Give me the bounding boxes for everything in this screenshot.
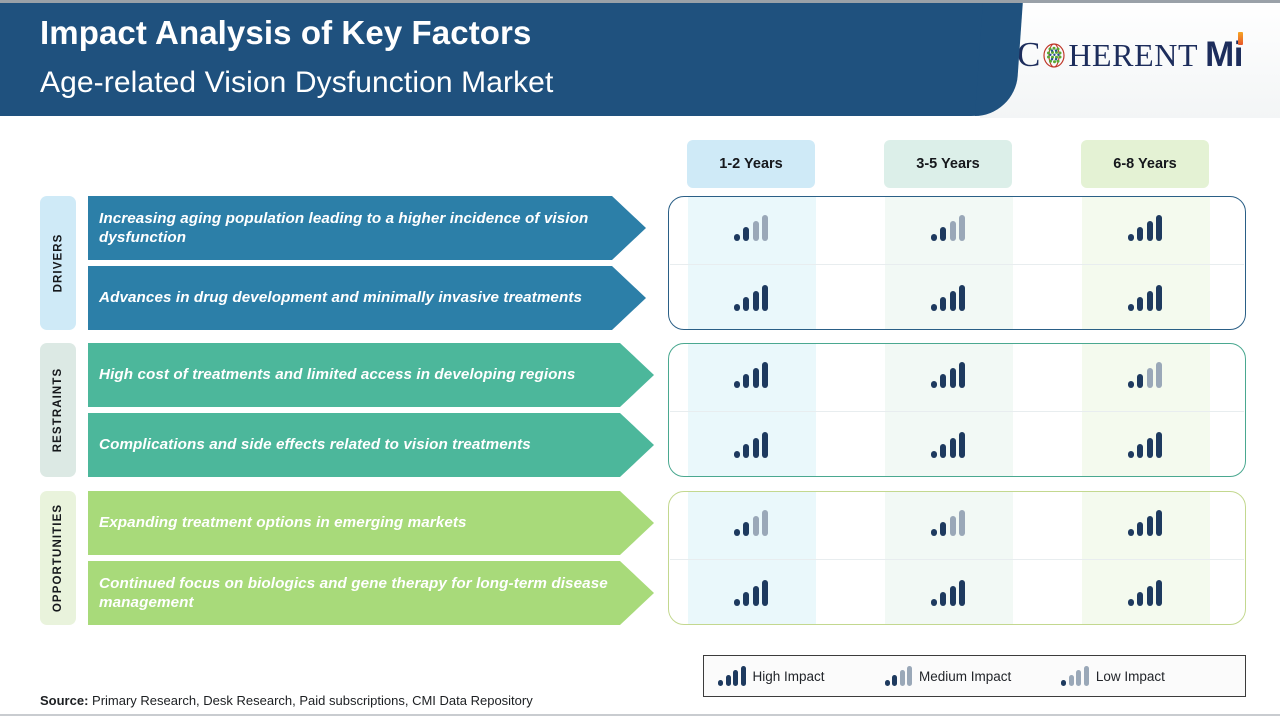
impact-bar — [1076, 670, 1081, 686]
impact-bars-high — [734, 285, 769, 311]
impact-bar — [762, 432, 768, 458]
impact-cell — [1081, 491, 1209, 555]
impact-bar — [1128, 451, 1134, 458]
column-header-3-5-years: 3-5 Years — [884, 140, 1012, 188]
category-tab-label: OPPORTUNITIES — [52, 504, 64, 612]
impact-cell — [1081, 561, 1209, 625]
impact-bar — [762, 580, 768, 606]
impact-bar — [959, 510, 965, 536]
impact-bar — [940, 444, 946, 458]
impact-bars-high — [1128, 580, 1163, 606]
impact-cell — [687, 491, 815, 555]
impact-bars-high — [734, 580, 769, 606]
factor-text: High cost of treatments and limited acce… — [99, 365, 575, 384]
impact-bar — [1128, 381, 1134, 388]
impact-cell — [1081, 413, 1209, 477]
impact-bar — [940, 374, 946, 388]
impact-bars-high — [931, 580, 966, 606]
column-header-label: 1-2 Years — [719, 156, 782, 172]
impact-bar — [743, 374, 749, 388]
impact-bar — [950, 291, 956, 311]
impact-bar — [734, 529, 740, 536]
impact-bar — [1156, 432, 1162, 458]
legend-item-high: High Impact — [718, 666, 825, 686]
impact-bar — [743, 297, 749, 311]
impact-bar — [1147, 438, 1153, 458]
impact-bar — [734, 304, 740, 311]
impact-bar — [940, 522, 946, 536]
impact-bar — [959, 215, 965, 241]
impact-bar — [753, 368, 759, 388]
impact-bar — [1156, 285, 1162, 311]
impact-bars-high — [1128, 285, 1163, 311]
impact-bars-high — [931, 432, 966, 458]
impact-bar — [1137, 444, 1143, 458]
category-tab-opportunities[interactable]: OPPORTUNITIES — [40, 491, 76, 625]
impact-bar — [940, 592, 946, 606]
impact-bars-high — [734, 362, 769, 388]
impact-cell — [687, 343, 815, 407]
section-opportunities: OPPORTUNITIESExpanding treatment options… — [0, 491, 1280, 625]
factor-arrow[interactable]: Advances in drug development and minimal… — [88, 266, 646, 330]
impact-bar — [940, 227, 946, 241]
legend-item-medium: Medium Impact — [885, 666, 1012, 686]
impact-bar — [1128, 599, 1134, 606]
impact-bar — [950, 368, 956, 388]
impact-bar — [1156, 510, 1162, 536]
infographic-canvas: Impact Analysis of Key Factors Age-relat… — [0, 0, 1280, 720]
column-header-1-2-years: 1-2 Years — [687, 140, 815, 188]
factor-arrow[interactable]: Complications and side effects related t… — [88, 413, 654, 477]
impact-bars-medium — [1128, 362, 1163, 388]
impact-bar — [733, 670, 738, 686]
impact-bar — [753, 438, 759, 458]
impact-bar — [762, 285, 768, 311]
row-separator — [670, 411, 1244, 412]
impact-bar — [1156, 362, 1162, 388]
logo-accent-bar — [1238, 32, 1243, 45]
bottom-divider — [0, 714, 1280, 716]
impact-bar — [1147, 291, 1153, 311]
impact-cell — [687, 413, 815, 477]
impact-bar — [931, 381, 937, 388]
impact-bar — [1084, 666, 1089, 686]
section-drivers: DRIVERSIncreasing aging population leadi… — [0, 196, 1280, 330]
impact-bar — [931, 529, 937, 536]
impact-bar — [1137, 522, 1143, 536]
impact-cell — [884, 196, 1012, 260]
impact-bar — [959, 285, 965, 311]
impact-bar — [734, 234, 740, 241]
impact-bar — [753, 221, 759, 241]
impact-bar — [1147, 368, 1153, 388]
impact-bar — [743, 227, 749, 241]
factor-arrow[interactable]: Increasing aging population leading to a… — [88, 196, 646, 260]
impact-bar — [762, 510, 768, 536]
impact-bar — [753, 516, 759, 536]
impact-bar — [1061, 680, 1066, 686]
impact-cell — [884, 266, 1012, 330]
category-tab-label: RESTRAINTS — [52, 368, 64, 452]
impact-bar — [743, 444, 749, 458]
top-divider — [0, 0, 1280, 3]
impact-cell — [1081, 266, 1209, 330]
impact-bars-medium — [885, 666, 913, 686]
impact-bar — [1137, 297, 1143, 311]
impact-bar — [762, 215, 768, 241]
impact-bars-high — [734, 432, 769, 458]
impact-bar — [753, 291, 759, 311]
impact-bar — [907, 666, 912, 686]
category-tab-label: DRIVERS — [52, 234, 64, 293]
impact-bar — [940, 297, 946, 311]
factor-text: Advances in drug development and minimal… — [99, 288, 582, 307]
impact-bar — [931, 304, 937, 311]
impact-bar — [1137, 227, 1143, 241]
row-separator — [670, 559, 1244, 560]
impact-bars-high — [1128, 510, 1163, 536]
impact-cell — [687, 266, 815, 330]
impact-bar — [743, 522, 749, 536]
impact-bar — [1069, 675, 1074, 686]
factor-text: Continued focus on biologics and gene th… — [99, 574, 608, 613]
impact-bar — [1147, 221, 1153, 241]
impact-cell — [884, 561, 1012, 625]
section-restraints: RESTRAINTSHigh cost of treatments and li… — [0, 343, 1280, 477]
impact-bar — [741, 666, 746, 686]
impact-bar — [753, 586, 759, 606]
impact-bars-high — [1128, 432, 1163, 458]
impact-cell — [1081, 343, 1209, 407]
column-header-label: 3-5 Years — [916, 156, 979, 172]
source-text: Primary Research, Desk Research, Paid su… — [88, 693, 532, 708]
impact-bars-medium — [734, 510, 769, 536]
impact-bar — [931, 451, 937, 458]
category-tab-drivers[interactable]: DRIVERS — [40, 196, 76, 330]
impact-bar — [931, 599, 937, 606]
impact-bar — [726, 675, 731, 686]
impact-bars-high — [931, 362, 966, 388]
factor-text: Increasing aging population leading to a… — [99, 209, 600, 248]
legend-label: High Impact — [753, 669, 825, 684]
impact-cell — [1081, 196, 1209, 260]
impact-bar — [1128, 529, 1134, 536]
impact-bar — [959, 580, 965, 606]
impact-cell — [687, 196, 815, 260]
impact-bar — [931, 234, 937, 241]
impact-bar — [950, 586, 956, 606]
factor-arrow[interactable]: High cost of treatments and limited acce… — [88, 343, 654, 407]
impact-bars-low — [1061, 666, 1089, 686]
impact-bar — [743, 592, 749, 606]
impact-bar — [1128, 234, 1134, 241]
column-header-label: 6-8 Years — [1113, 156, 1176, 172]
impact-bar — [950, 221, 956, 241]
impact-bar — [762, 362, 768, 388]
impact-bar — [1137, 374, 1143, 388]
logo-text-mi: Mi — [1205, 35, 1243, 75]
legend-item-low: Low Impact — [1061, 666, 1165, 686]
impact-bar — [1128, 304, 1134, 311]
impact-bar — [718, 680, 723, 686]
impact-bar — [1156, 580, 1162, 606]
factor-text: Complications and side effects related t… — [99, 435, 531, 454]
impact-bars-high — [718, 666, 746, 686]
factor-arrow[interactable]: Expanding treatment options in emerging … — [88, 491, 654, 555]
impact-bar — [1156, 215, 1162, 241]
source-note: Source: Primary Research, Desk Research,… — [40, 693, 533, 708]
impact-cell — [687, 561, 815, 625]
impact-cell — [884, 413, 1012, 477]
impact-bar — [950, 516, 956, 536]
impact-cell — [884, 343, 1012, 407]
brand-logo: C HER — [980, 0, 1280, 118]
impact-bars-medium — [931, 510, 966, 536]
column-header-6-8-years: 6-8 Years — [1081, 140, 1209, 188]
impact-cell — [884, 491, 1012, 555]
factor-arrow[interactable]: Continued focus on biologics and gene th… — [88, 561, 654, 625]
impact-bar — [734, 451, 740, 458]
page-title: Impact Analysis of Key Factors — [40, 14, 531, 52]
impact-bar — [959, 432, 965, 458]
impact-bar — [1137, 592, 1143, 606]
impact-bar — [959, 362, 965, 388]
logo-text-coherent: HERENT — [1068, 37, 1198, 74]
impact-bars-high — [1128, 215, 1163, 241]
legend: High ImpactMedium ImpactLow Impact — [703, 655, 1246, 697]
impact-bar — [885, 680, 890, 686]
impact-bar — [900, 670, 905, 686]
row-separator — [670, 264, 1244, 265]
impact-bar — [1147, 516, 1153, 536]
impact-bar — [734, 381, 740, 388]
logo-letter-c: C — [1017, 35, 1040, 75]
legend-label: Low Impact — [1096, 669, 1165, 684]
source-label: Source: — [40, 693, 88, 708]
impact-bar — [734, 599, 740, 606]
legend-label: Medium Impact — [919, 669, 1011, 684]
impact-bar — [950, 438, 956, 458]
impact-bars-medium — [734, 215, 769, 241]
impact-bar — [892, 675, 897, 686]
category-tab-restraints[interactable]: RESTRAINTS — [40, 343, 76, 477]
factor-text: Expanding treatment options in emerging … — [99, 513, 467, 532]
impact-bars-high — [931, 285, 966, 311]
globe-icon — [1041, 42, 1067, 69]
impact-bar — [1147, 586, 1153, 606]
page-subtitle: Age-related Vision Dysfunction Market — [40, 66, 553, 100]
impact-bars-medium — [931, 215, 966, 241]
